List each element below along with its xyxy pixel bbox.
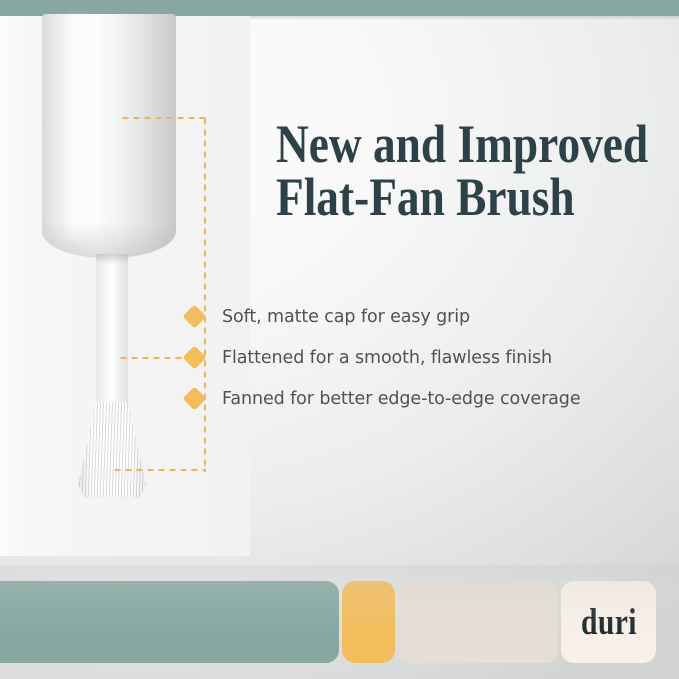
- leader-line-top: [120, 116, 206, 120]
- page-title: New and Improved Flat-Fan Brush: [276, 118, 612, 224]
- color-segment-gold: [342, 581, 395, 663]
- headline-line-2: Flat-Fan Brush: [276, 171, 612, 224]
- cap-highlight: [60, 16, 94, 241]
- diamond-bullet-icon: [182, 304, 206, 328]
- color-segment-beige: [398, 581, 558, 663]
- headline-line-1: New and Improved: [276, 114, 648, 174]
- list-item: Fanned for better edge-to-edge coverage: [186, 378, 666, 419]
- bottom-color-bar: duri: [0, 565, 679, 679]
- color-segment-green: [0, 581, 339, 663]
- brand-logo-tile: duri: [561, 581, 656, 663]
- feature-list: Soft, matte cap for easy grip Flattened …: [186, 296, 666, 419]
- product-feature-poster: New and Improved Flat-Fan Brush Soft, ma…: [0, 0, 679, 679]
- product-photo: [0, 16, 250, 556]
- leader-line-bottom: [112, 468, 206, 472]
- brush-stem: [96, 254, 128, 406]
- brand-logo-text: duri: [581, 601, 637, 644]
- brush-stem-shadow: [96, 254, 128, 264]
- feature-text: Fanned for better edge-to-edge coverage: [222, 389, 580, 409]
- feature-text: Soft, matte cap for easy grip: [222, 307, 470, 327]
- list-item: Flattened for a smooth, flawless finish: [186, 337, 666, 378]
- diamond-bullet-icon: [182, 345, 206, 369]
- diamond-bullet-icon: [182, 386, 206, 410]
- list-item: Soft, matte cap for easy grip: [186, 296, 666, 337]
- feature-text: Flattened for a smooth, flawless finish: [222, 348, 552, 368]
